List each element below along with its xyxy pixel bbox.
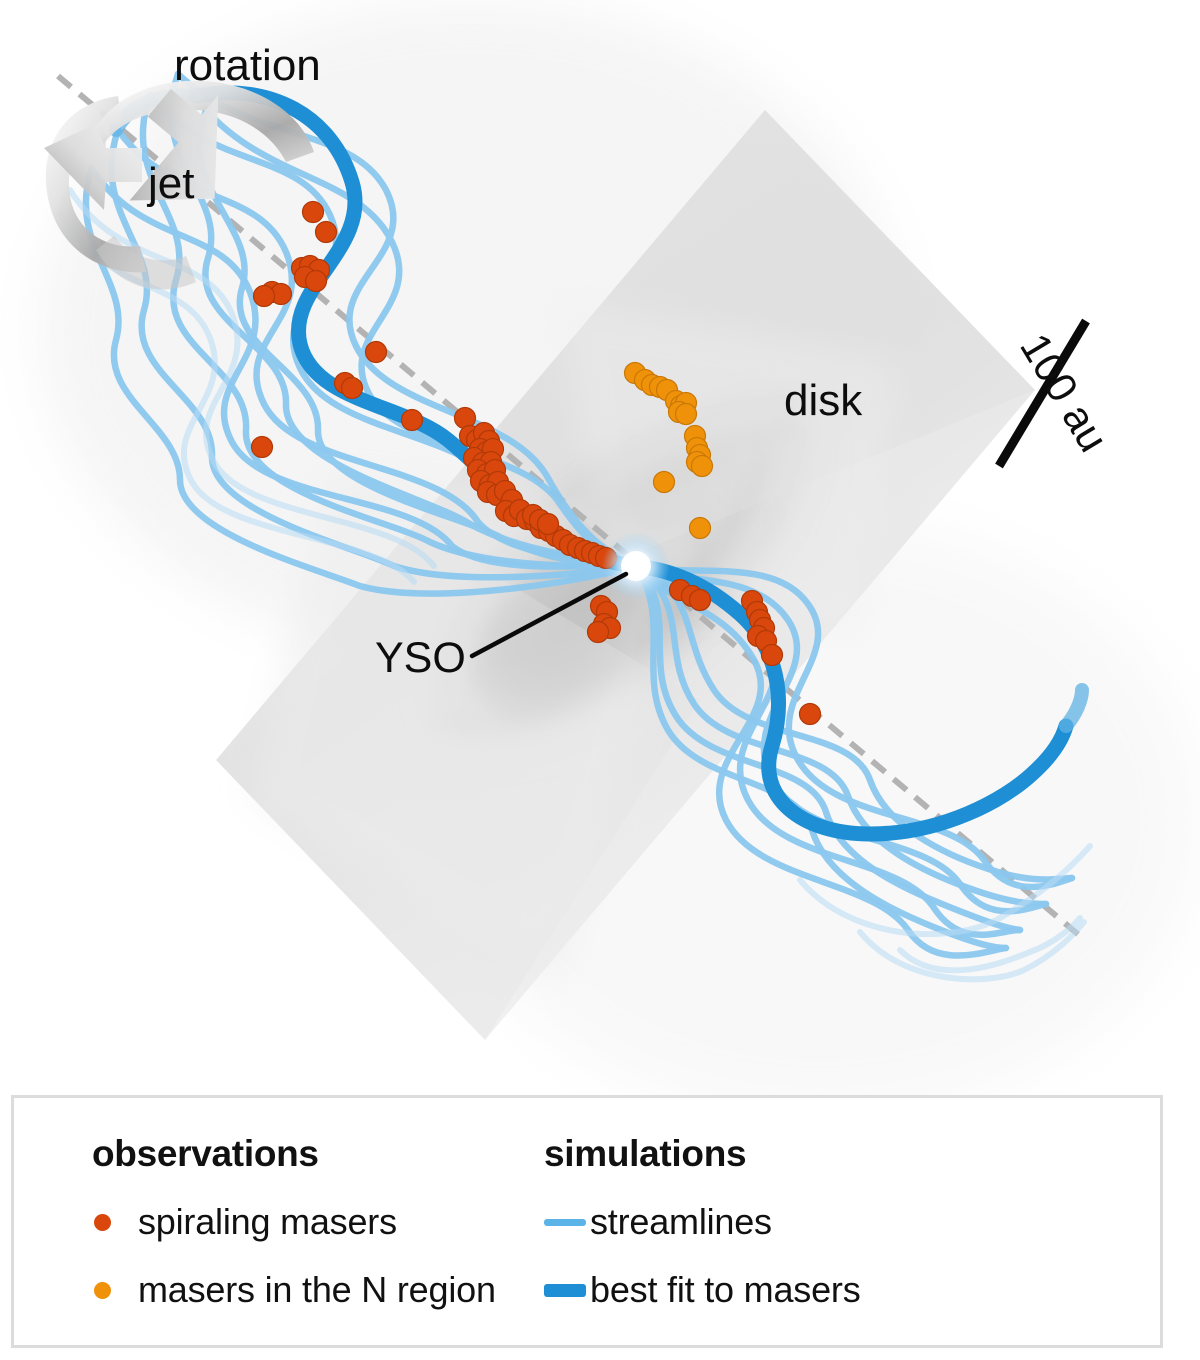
- yso-label: YSO: [375, 634, 466, 682]
- yso-marker: [602, 532, 670, 600]
- legend-label-spiraling-masers: spiraling masers: [138, 1201, 397, 1243]
- maser-point: [303, 202, 324, 223]
- legend-item-best-fit: best fit to masers: [544, 1269, 861, 1311]
- legend-marker-line-thick: [544, 1284, 590, 1297]
- legend-label-best-fit: best fit to masers: [590, 1269, 861, 1311]
- legend-item-spiraling-masers: spiraling masers: [92, 1201, 496, 1243]
- maser-point: [252, 437, 273, 458]
- maser-point: [690, 518, 711, 539]
- maser-point: [342, 378, 363, 399]
- disk-label: disk: [784, 376, 863, 425]
- legend-label-streamlines: streamlines: [590, 1201, 772, 1243]
- maser-point: [402, 410, 423, 431]
- legend-item-n-region-masers: masers in the N region: [92, 1269, 496, 1311]
- legend-marker-line-thin: [544, 1219, 590, 1226]
- maser-point: [254, 286, 275, 307]
- legend-marker-dot-orange: [92, 1282, 138, 1299]
- maser-point: [306, 271, 327, 292]
- jet-label: jet: [146, 159, 194, 208]
- maser-point: [692, 456, 713, 477]
- maser-point: [366, 342, 387, 363]
- rotation-label: rotation: [174, 41, 321, 90]
- legend-label-n-region-masers: masers in the N region: [138, 1269, 496, 1311]
- legend-item-streamlines: streamlines: [544, 1201, 861, 1243]
- maser-point: [676, 404, 697, 425]
- maser-point: [654, 472, 675, 493]
- legend-title-simulations: simulations: [544, 1133, 861, 1175]
- maser-point: [538, 514, 559, 535]
- maser-point: [588, 622, 609, 643]
- legend-title-observations: observations: [92, 1133, 496, 1175]
- maser-point: [800, 704, 821, 725]
- legend-column-observations: observations spiraling masers masers in …: [92, 1133, 496, 1311]
- maser-point: [690, 590, 711, 611]
- maser-point: [316, 222, 337, 243]
- legend-box: observations spiraling masers masers in …: [11, 1095, 1163, 1348]
- legend-column-simulations: simulations streamlines best fit to mase…: [544, 1133, 861, 1311]
- maser-point: [762, 645, 783, 666]
- legend-marker-dot-red: [92, 1214, 138, 1231]
